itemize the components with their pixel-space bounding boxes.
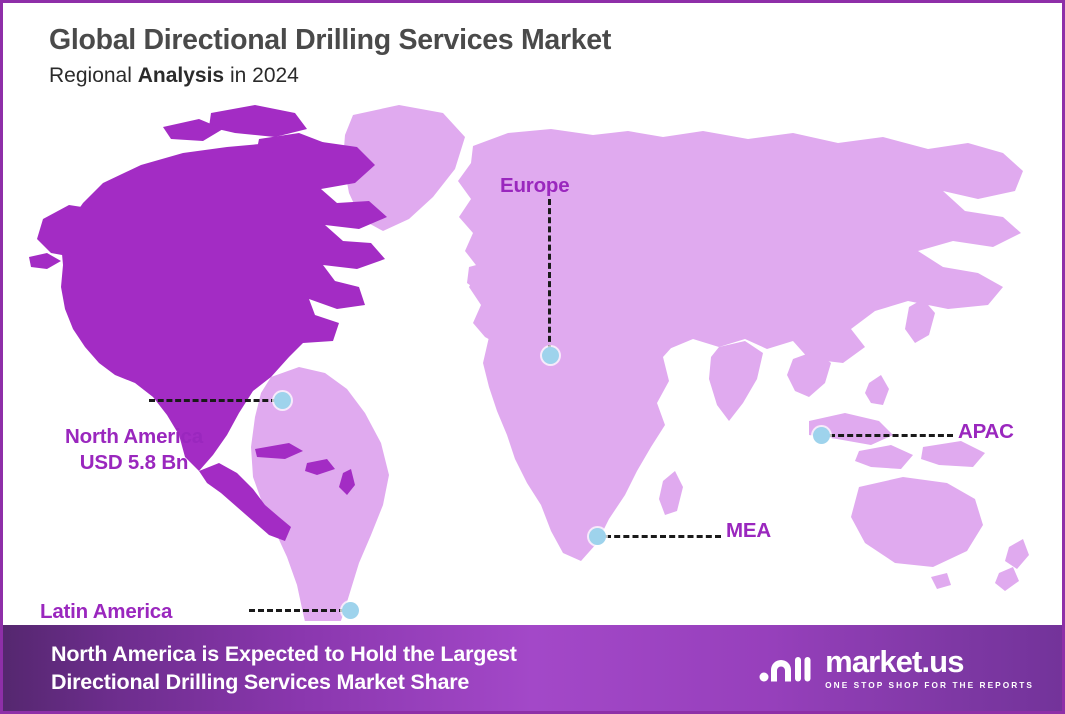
- subtitle-emphasis: Analysis: [138, 64, 224, 87]
- region-tasmania: [931, 573, 951, 589]
- region-label-latin-america[interactable]: Latin America: [40, 599, 172, 625]
- connector-north-america: [149, 399, 277, 402]
- region-label-mea[interactable]: MEA: [726, 518, 771, 544]
- region-india: [709, 341, 763, 421]
- connector-europe: [548, 199, 551, 351]
- region-aleutians: [29, 253, 61, 269]
- page-subtitle: Regional Analysis in 2024: [49, 63, 909, 88]
- map-base-regions: [249, 105, 1029, 621]
- region-label-europe[interactable]: Europe: [500, 173, 569, 199]
- header: Global Directional Drilling Services Mar…: [49, 23, 909, 88]
- banner-headline: North America is Expected to Hold the La…: [51, 640, 517, 697]
- infographic-root: Global Directional Drilling Services Mar…: [0, 0, 1065, 714]
- subtitle-suffix: in 2024: [224, 64, 299, 87]
- map-marker-europe[interactable]: [542, 347, 559, 364]
- region-philippines: [865, 375, 889, 405]
- connector-mea: [605, 535, 721, 538]
- region-label-north-america[interactable]: North America USD 5.8 Bn: [39, 424, 229, 475]
- map-marker-mea[interactable]: [589, 528, 606, 545]
- world-map-svg: [3, 91, 1062, 621]
- region-label-latin-america-name: Latin America: [40, 599, 172, 625]
- subtitle-prefix: Regional: [49, 64, 138, 87]
- region-indonesia-2: [855, 445, 913, 469]
- brand-logo[interactable]: market.us ONE STOP SHOP FOR THE REPORTS: [758, 646, 1034, 689]
- region-new-zealand-south: [995, 567, 1019, 591]
- region-new-guinea: [921, 441, 985, 467]
- region-label-north-america-name: North America: [39, 424, 229, 450]
- connector-latin-america: [249, 609, 345, 612]
- map-marker-apac[interactable]: [813, 427, 830, 444]
- region-new-zealand: [1005, 539, 1029, 569]
- region-japan: [905, 299, 935, 343]
- region-label-apac-name: APAC: [958, 419, 1014, 445]
- logo-text-block: market.us ONE STOP SHOP FOR THE REPORTS: [825, 646, 1034, 689]
- map-marker-north-america[interactable]: [274, 392, 291, 409]
- region-madagascar: [659, 471, 683, 515]
- page-title: Global Directional Drilling Services Mar…: [49, 23, 909, 57]
- logo-tagline: ONE STOP SHOP FOR THE REPORTS: [825, 681, 1034, 689]
- region-africa: [483, 291, 693, 561]
- region-label-north-america-value: USD 5.8 Bn: [39, 450, 229, 476]
- region-label-apac[interactable]: APAC: [958, 419, 1014, 445]
- region-south-america: [251, 367, 389, 621]
- world-map-container: Europe APAC MEA Latin America North Amer…: [3, 91, 1062, 621]
- region-australia: [851, 477, 983, 567]
- market-us-logo-icon: [758, 650, 814, 686]
- region-label-europe-name: Europe: [500, 173, 569, 199]
- logo-wordmark: market.us: [825, 646, 963, 677]
- bottom-banner: North America is Expected to Hold the La…: [3, 625, 1062, 711]
- connector-apac: [829, 434, 953, 437]
- region-label-mea-name: MEA: [726, 518, 771, 544]
- region-arctic-islands-1: [209, 105, 307, 137]
- map-marker-latin-america[interactable]: [342, 602, 359, 619]
